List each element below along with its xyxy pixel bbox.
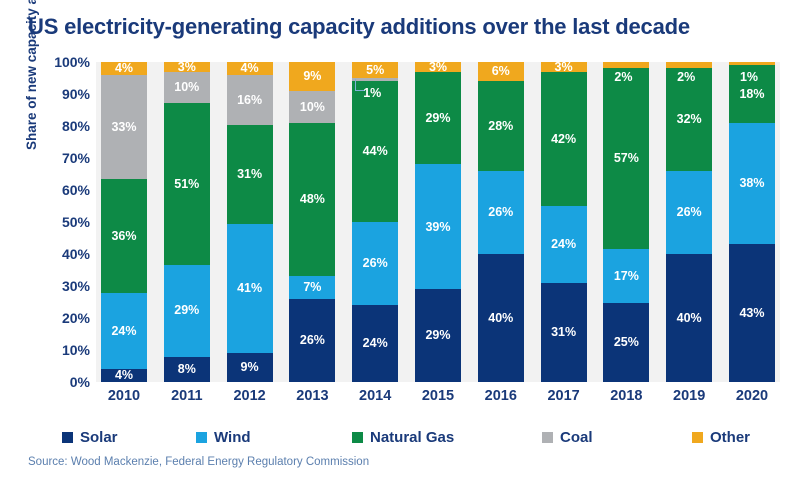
bar-column-2013[interactable]: 9%10%48%7%26% xyxy=(289,62,335,382)
bar-column-2015[interactable]: 3%29%39%29% xyxy=(415,62,461,382)
segment-value-label: 1% xyxy=(740,71,758,84)
segment-value-label: 44% xyxy=(363,145,388,158)
bar-segment-solar[interactable]: 4% xyxy=(101,369,147,382)
bar-segment-wind[interactable]: 26% xyxy=(666,171,712,254)
source-note: Source: Wood Mackenzie, Federal Energy R… xyxy=(28,456,369,468)
bar-segment-solar[interactable]: 43% xyxy=(729,244,775,382)
x-axis-label-2014: 2014 xyxy=(352,388,398,414)
y-axis-tick: 20% xyxy=(62,310,90,326)
x-axis-label-2011: 2011 xyxy=(164,388,210,414)
bar-segment-solar[interactable]: 25% xyxy=(603,303,649,382)
segment-value-label: 9% xyxy=(241,361,259,374)
segment-value-label: 41% xyxy=(237,282,262,295)
bar-segment-wind[interactable]: 7% xyxy=(289,276,335,298)
legend-label: Wind xyxy=(214,429,251,446)
legend-item-wind[interactable]: Wind xyxy=(196,429,251,446)
bar-segment-wind[interactable]: 26% xyxy=(478,171,524,254)
y-axis-tick: 90% xyxy=(62,86,90,102)
segment-value-label: 24% xyxy=(551,238,576,251)
chart-legend: SolarWindNatural GasCoalOther xyxy=(62,425,752,449)
x-axis-labels: 2010201120122013201420152016201720182019… xyxy=(96,388,780,414)
y-axis-tick: 30% xyxy=(62,278,90,294)
segment-value-label: 17% xyxy=(614,270,639,283)
bar-segment-natural-gas[interactable]: 42% xyxy=(541,72,587,206)
x-axis-label-2020: 2020 xyxy=(729,388,775,414)
legend-label: Solar xyxy=(80,429,118,446)
y-axis-tick: 100% xyxy=(54,54,90,70)
y-axis-tick: 0% xyxy=(70,374,90,390)
segment-value-label: 33% xyxy=(111,121,136,134)
bar-segment-wind[interactable]: 39% xyxy=(415,164,461,289)
segment-value-label: 42% xyxy=(551,133,576,146)
x-axis-label-2015: 2015 xyxy=(415,388,461,414)
bar-segment-coal[interactable]: 16% xyxy=(227,75,273,126)
x-axis-label-2010: 2010 xyxy=(101,388,147,414)
segment-value-label: 36% xyxy=(111,230,136,243)
bar-segment-wind[interactable]: 41% xyxy=(227,224,273,354)
bar-segment-natural-gas[interactable]: 29% xyxy=(415,72,461,165)
segment-value-label: 24% xyxy=(111,325,136,338)
bar-segment-natural-gas[interactable]: 36% xyxy=(101,179,147,293)
segment-value-label: 29% xyxy=(174,304,199,317)
bar-segment-solar[interactable]: 26% xyxy=(289,299,335,382)
y-axis-tick: 10% xyxy=(62,342,90,358)
bar-column-2016[interactable]: 6%28%26%40% xyxy=(478,62,524,382)
y-axis-tick: 80% xyxy=(62,118,90,134)
bar-column-2010[interactable]: 4%33%36%24%4% xyxy=(101,62,147,382)
segment-value-label: 43% xyxy=(739,307,764,320)
x-axis-label-2017: 2017 xyxy=(541,388,587,414)
x-axis-label-2013: 2013 xyxy=(289,388,335,414)
bar-segment-other[interactable]: 6% xyxy=(478,62,524,81)
y-axis-tick: 60% xyxy=(62,182,90,198)
bar-segment-wind[interactable]: 17% xyxy=(603,249,649,303)
bar-segment-other[interactable]: 5% xyxy=(352,62,398,78)
segment-value-label: 39% xyxy=(425,221,450,234)
bar-segment-solar[interactable]: 29% xyxy=(415,289,461,382)
legend-swatch-icon xyxy=(196,432,207,443)
segment-value-label: 18% xyxy=(739,88,764,101)
legend-swatch-icon xyxy=(352,432,363,443)
bar-segment-wind[interactable]: 24% xyxy=(541,206,587,283)
bar-segment-wind[interactable]: 38% xyxy=(729,123,775,245)
segment-value-label: 26% xyxy=(363,257,388,270)
bar-segment-coal[interactable]: 33% xyxy=(101,75,147,180)
legend-item-coal[interactable]: Coal xyxy=(542,429,593,446)
bar-segment-wind[interactable]: 29% xyxy=(164,265,210,357)
segment-value-label: 7% xyxy=(303,281,321,294)
segment-value-label: 26% xyxy=(300,334,325,347)
bar-column-2012[interactable]: 4%16%31%41%9% xyxy=(227,62,273,382)
legend-swatch-icon xyxy=(542,432,553,443)
segment-value-label: 26% xyxy=(677,206,702,219)
bar-column-2017[interactable]: 3%42%24%31% xyxy=(541,62,587,382)
bar-segment-coal[interactable]: 10% xyxy=(164,72,210,104)
segment-value-label: 28% xyxy=(488,120,513,133)
bar-column-2014[interactable]: 5%1%44%26%24% xyxy=(352,62,398,382)
stacked-bar-plot-area: 4%33%36%24%4%3%10%51%29%8%4%16%31%41%9%9… xyxy=(96,62,780,382)
segment-value-label: 4% xyxy=(115,369,133,382)
bar-segment-wind[interactable]: 26% xyxy=(352,222,398,305)
segment-value-label: 31% xyxy=(551,326,576,339)
x-axis-label-2019: 2019 xyxy=(666,388,712,414)
segment-value-label: 8% xyxy=(178,363,196,376)
legend-label: Coal xyxy=(560,429,593,446)
segment-value-label: 5% xyxy=(366,64,384,77)
bar-column-2020[interactable]: 1%18%38%43% xyxy=(729,62,775,382)
segment-value-label: 48% xyxy=(300,193,325,206)
bar-segment-solar[interactable]: 40% xyxy=(666,254,712,382)
y-axis-tick: 50% xyxy=(62,214,90,230)
segment-value-label: 51% xyxy=(174,178,199,191)
legend-swatch-icon xyxy=(62,432,73,443)
segment-value-label: 38% xyxy=(739,177,764,190)
x-axis-label-2018: 2018 xyxy=(603,388,649,414)
legend-item-natural-gas[interactable]: Natural Gas xyxy=(352,429,454,446)
bar-column-2018[interactable]: 2%57%17%25% xyxy=(603,62,649,382)
segment-value-label: 40% xyxy=(488,312,513,325)
legend-swatch-icon xyxy=(692,432,703,443)
bar-segment-other[interactable]: 4% xyxy=(227,62,273,75)
bar-segment-natural-gas[interactable]: 28% xyxy=(478,81,524,171)
bar-column-2011[interactable]: 3%10%51%29%8% xyxy=(164,62,210,382)
bar-segment-solar[interactable]: 40% xyxy=(478,254,524,382)
bar-segment-natural-gas[interactable]: 31% xyxy=(227,125,273,223)
y-axis-title: Share of new capacity additions (%) xyxy=(24,0,39,150)
bar-segment-coal[interactable]: 10% xyxy=(289,91,335,123)
segment-value-label: 3% xyxy=(555,61,573,74)
bar-segment-other[interactable]: 9% xyxy=(289,62,335,91)
segment-value-label: 2% xyxy=(677,71,695,84)
bar-segment-other[interactable]: 3% xyxy=(541,62,587,72)
x-axis-label-2016: 2016 xyxy=(478,388,524,414)
y-axis-tick: 40% xyxy=(62,246,90,262)
segment-value-label: 9% xyxy=(303,70,321,83)
segment-value-label: 6% xyxy=(492,65,510,78)
legend-label: Natural Gas xyxy=(370,429,454,446)
segment-value-label: 25% xyxy=(614,336,639,349)
bar-column-2019[interactable]: 2%32%26%40% xyxy=(666,62,712,382)
segment-value-label: 2% xyxy=(614,71,632,84)
x-axis-label-2012: 2012 xyxy=(227,388,273,414)
legend-item-solar[interactable]: Solar xyxy=(62,429,118,446)
bar-segment-natural-gas[interactable]: 44% xyxy=(352,81,398,222)
segment-value-label: 29% xyxy=(425,329,450,342)
bar-segment-natural-gas[interactable]: 48% xyxy=(289,123,335,277)
bar-segment-solar[interactable]: 24% xyxy=(352,305,398,382)
segment-value-label: 57% xyxy=(614,152,639,165)
bar-segment-wind[interactable]: 24% xyxy=(101,293,147,369)
segment-value-label: 40% xyxy=(677,312,702,325)
bar-segment-solar[interactable]: 31% xyxy=(541,283,587,382)
segment-value-label: 29% xyxy=(425,112,450,125)
segment-value-label: 26% xyxy=(488,206,513,219)
bar-segment-natural-gas[interactable]: 57% xyxy=(603,68,649,249)
page-title: US electricity-generating capacity addit… xyxy=(28,14,690,40)
segment-value-label: 3% xyxy=(429,61,447,74)
legend-label: Other xyxy=(710,429,750,446)
segment-value-label: 31% xyxy=(237,168,262,181)
bar-segment-solar[interactable]: 9% xyxy=(227,353,273,382)
segment-value-label: 10% xyxy=(300,101,325,114)
bar-segment-natural-gas[interactable]: 51% xyxy=(164,103,210,265)
segment-value-label: 4% xyxy=(241,62,259,75)
y-axis-ticks: 100%90%80%70%60%50%40%30%20%10%0% xyxy=(42,62,94,382)
bar-segment-solar[interactable]: 8% xyxy=(164,357,210,382)
segment-value-label: 3% xyxy=(178,61,196,74)
segment-value-label: 32% xyxy=(677,113,702,126)
bar-segment-other[interactable]: 4% xyxy=(101,62,147,75)
segment-value-label: 1% xyxy=(363,87,381,100)
segment-value-label: 10% xyxy=(174,81,199,94)
segment-value-label: 16% xyxy=(237,94,262,107)
bar-segment-other[interactable]: 3% xyxy=(415,62,461,72)
y-axis-tick: 70% xyxy=(62,150,90,166)
legend-item-other[interactable]: Other xyxy=(692,429,750,446)
segment-value-label: 4% xyxy=(115,62,133,75)
bar-segment-other[interactable]: 3% xyxy=(164,62,210,72)
segment-value-label: 24% xyxy=(363,337,388,350)
chart-plot-wrapper: Share of new capacity additions (%) 100%… xyxy=(28,62,780,392)
